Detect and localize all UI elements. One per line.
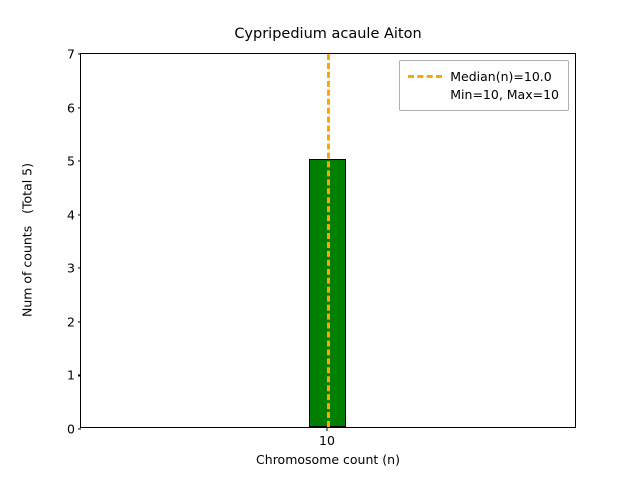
y-tick-label: 3 (67, 261, 75, 276)
y-tick-mark (78, 214, 82, 215)
y-tick-label: 5 (67, 154, 75, 169)
legend-entry-median: Median(n)=10.0 (408, 67, 559, 85)
y-tick-label: 4 (67, 207, 75, 222)
y-tick-label: 2 (67, 314, 75, 329)
chart-legend: Median(n)=10.0 Min=10, Max=10 (399, 60, 569, 111)
blank-swatch-icon (408, 93, 442, 96)
y-tick-mark (78, 107, 82, 108)
dashed-line-icon (408, 75, 442, 78)
y-tick-label: 1 (67, 368, 75, 383)
y-tick-mark (78, 375, 82, 376)
x-tick-label: 10 (319, 433, 335, 448)
y-tick-mark (78, 268, 82, 269)
median-line (327, 54, 330, 427)
y-tick-label: 6 (67, 100, 75, 115)
x-tick-mark (326, 427, 327, 431)
legend-label: Min=10, Max=10 (450, 87, 559, 102)
y-tick-mark (78, 428, 82, 429)
chart-title: Cypripedium acaule Aiton (80, 27, 576, 42)
y-tick-mark (78, 161, 82, 162)
y-tick-mark (78, 53, 82, 54)
y-tick-label: 7 (67, 47, 75, 62)
x-axis-label: Chromosome count (n) (80, 452, 576, 467)
legend-label: Median(n)=10.0 (450, 69, 551, 84)
y-tick-label: 0 (67, 422, 75, 437)
plot-area: 0 1 2 3 4 5 6 7 (80, 53, 576, 428)
chart-figure: Cypripedium acaule Aiton Num of counts (… (0, 0, 640, 480)
y-tick-mark (78, 321, 82, 322)
y-axis-label: Num of counts (Total 5) (20, 163, 35, 317)
legend-entry-minmax: Min=10, Max=10 (408, 85, 559, 103)
